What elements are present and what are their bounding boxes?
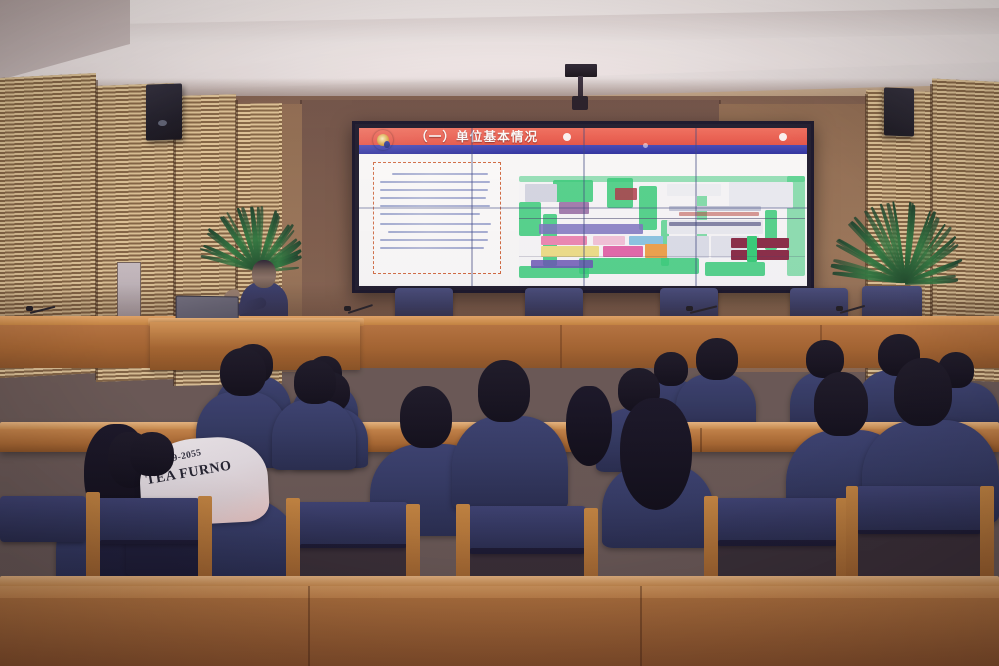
header-dot: [779, 133, 787, 141]
police-badge-emblem-icon: [373, 130, 393, 150]
panel-seam: [359, 207, 807, 209]
seat-back[interactable]: [468, 506, 586, 554]
seat-back[interactable]: [716, 498, 838, 546]
screen-content: （一）单位基本情况: [359, 128, 807, 286]
conference-room-photo: （一）单位基本情况: [0, 0, 999, 666]
ceiling-projector-head: [572, 96, 588, 110]
desk-shadow: [0, 284, 999, 318]
slide-text-box: [373, 162, 501, 274]
speaker-driver: [158, 120, 167, 126]
front-bench-edge: [0, 576, 999, 586]
audience-member: [272, 360, 356, 470]
seat-back[interactable]: [296, 502, 408, 548]
seat-back[interactable]: [96, 498, 200, 544]
video-wall-display[interactable]: （一）单位基本情况: [352, 121, 814, 293]
audience-member: [452, 360, 568, 510]
wall-speaker-right-icon: [884, 87, 914, 136]
seat-back[interactable]: [856, 486, 982, 534]
audience-member-ponytail: [602, 398, 714, 548]
seat-back[interactable]: [0, 496, 86, 542]
header-dot: [563, 133, 571, 141]
slide-title: （一）单位基本情况: [415, 128, 538, 145]
emblem-core: [384, 141, 390, 148]
emblem-inner-ring: [377, 134, 389, 146]
front-bench-panel: [0, 598, 999, 666]
wall-speaker-left-icon: [146, 83, 182, 140]
aerial-site-map: [519, 176, 805, 286]
header-dot-small: [643, 143, 648, 148]
